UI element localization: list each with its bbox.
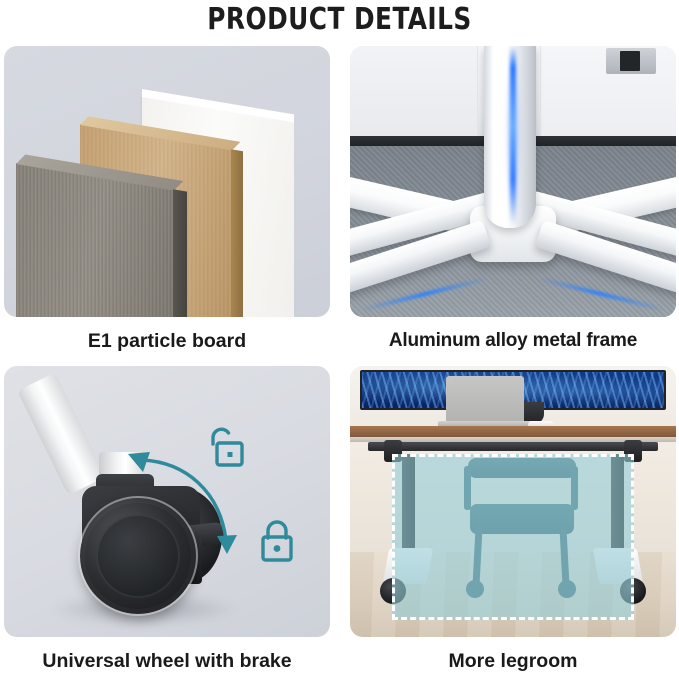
lock-open-icon bbox=[204, 424, 246, 470]
wall-device bbox=[606, 48, 656, 74]
blue-glow-column bbox=[510, 46, 516, 224]
detail-card-universal-wheel: Universal wheel with brake bbox=[4, 366, 330, 676]
desk-apron-rail bbox=[368, 442, 658, 451]
desk-leg-upper bbox=[17, 373, 106, 496]
legroom-highlight-area bbox=[392, 454, 634, 620]
universal-wheel-image bbox=[4, 366, 330, 637]
laptop-screen bbox=[446, 376, 524, 424]
particle-board-image bbox=[4, 46, 330, 317]
wall-panel-left bbox=[350, 46, 478, 138]
detail-card-particle-board: E1 particle board bbox=[4, 46, 330, 356]
page-title: PRODUCT DETAILS bbox=[27, 0, 652, 38]
caption-metal-frame: Aluminum alloy metal frame bbox=[350, 329, 676, 353]
caption-particle-board: E1 particle board bbox=[4, 329, 330, 353]
caption-universal-wheel: Universal wheel with brake bbox=[4, 649, 330, 673]
detail-card-metal-frame: Aluminum alloy metal frame bbox=[350, 46, 676, 356]
caption-more-legroom: More legroom bbox=[350, 649, 676, 673]
product-details-grid: E1 particle board Aluminum al bbox=[0, 44, 679, 673]
metal-frame-image bbox=[350, 46, 676, 317]
more-legroom-image bbox=[350, 366, 676, 637]
detail-card-more-legroom: More legroom bbox=[350, 366, 676, 676]
board-sample-gray bbox=[16, 163, 174, 317]
lock-closed-icon bbox=[256, 518, 298, 564]
